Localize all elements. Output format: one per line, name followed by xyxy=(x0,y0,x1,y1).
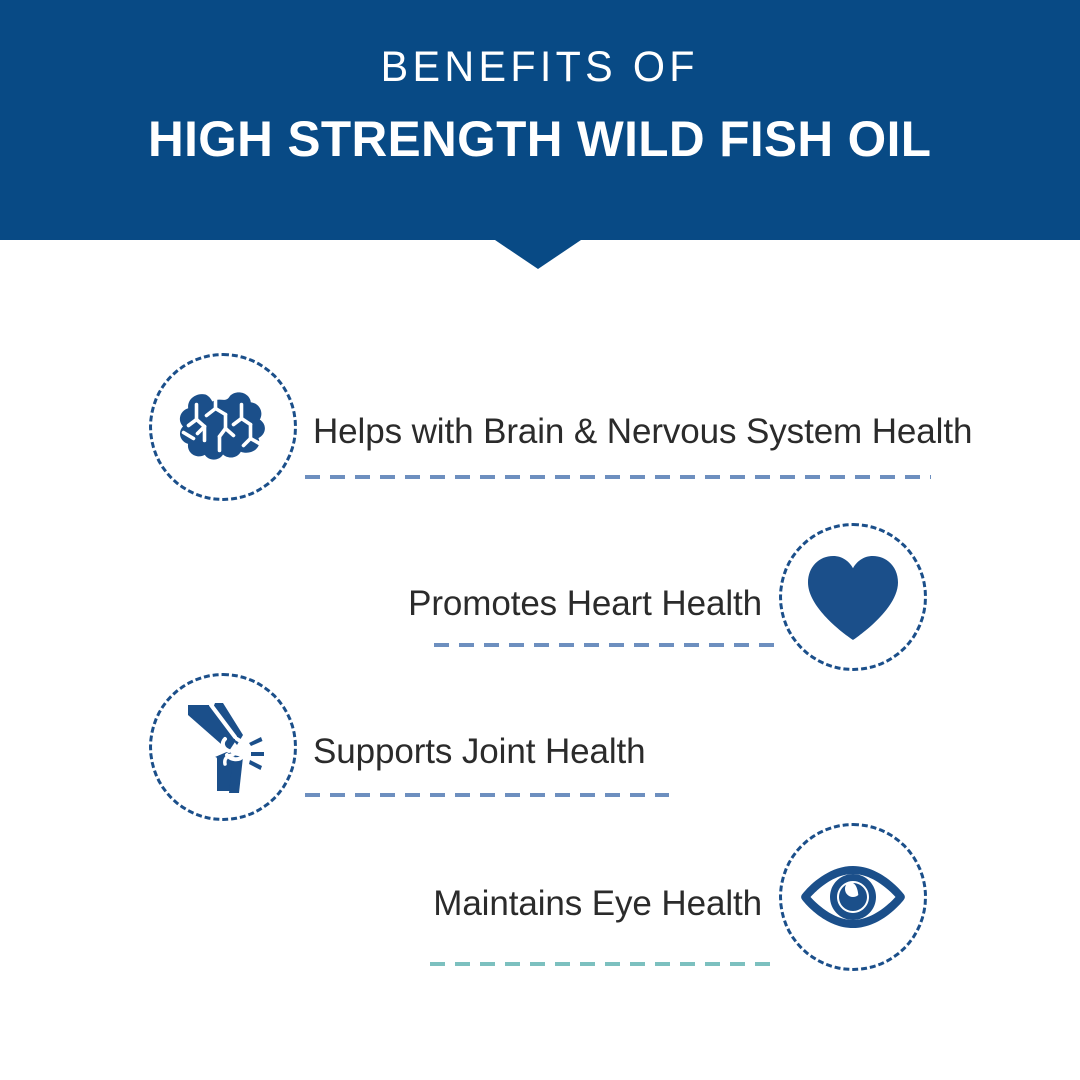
benefit-rule-joint xyxy=(305,793,669,797)
benefit-label-eye: Maintains Eye Health xyxy=(433,886,762,921)
knee-joint-icon xyxy=(177,699,269,795)
benefit-label-brain: Helps with Brain & Nervous System Health xyxy=(313,414,972,449)
page-title: HIGH STRENGTH WILD FISH OIL xyxy=(148,114,931,164)
header-banner: BENEFITS OF HIGH STRENGTH WILD FISH OIL xyxy=(0,0,1080,240)
header-eyebrow: BENEFITS OF xyxy=(381,46,699,89)
header-banner-content: BENEFITS OF HIGH STRENGTH WILD FISH OIL xyxy=(0,0,1080,240)
heart-icon xyxy=(804,553,902,641)
brain-icon xyxy=(175,388,271,466)
knee-joint-icon-circle xyxy=(149,673,297,821)
brain-icon-circle xyxy=(149,353,297,501)
benefit-rule-heart xyxy=(434,643,776,647)
eye-icon-circle xyxy=(779,823,927,971)
benefit-label-heart: Promotes Heart Health xyxy=(408,586,762,621)
benefit-rule-brain xyxy=(305,475,931,479)
heart-icon-circle xyxy=(779,523,927,671)
benefit-rule-eye xyxy=(430,962,776,966)
banner-pointer-notch xyxy=(495,240,581,269)
benefits-infographic: BENEFITS OF HIGH STRENGTH WILD FISH OIL xyxy=(0,0,1080,1080)
eye-icon xyxy=(801,866,905,928)
benefit-label-joint: Supports Joint Health xyxy=(313,734,646,769)
